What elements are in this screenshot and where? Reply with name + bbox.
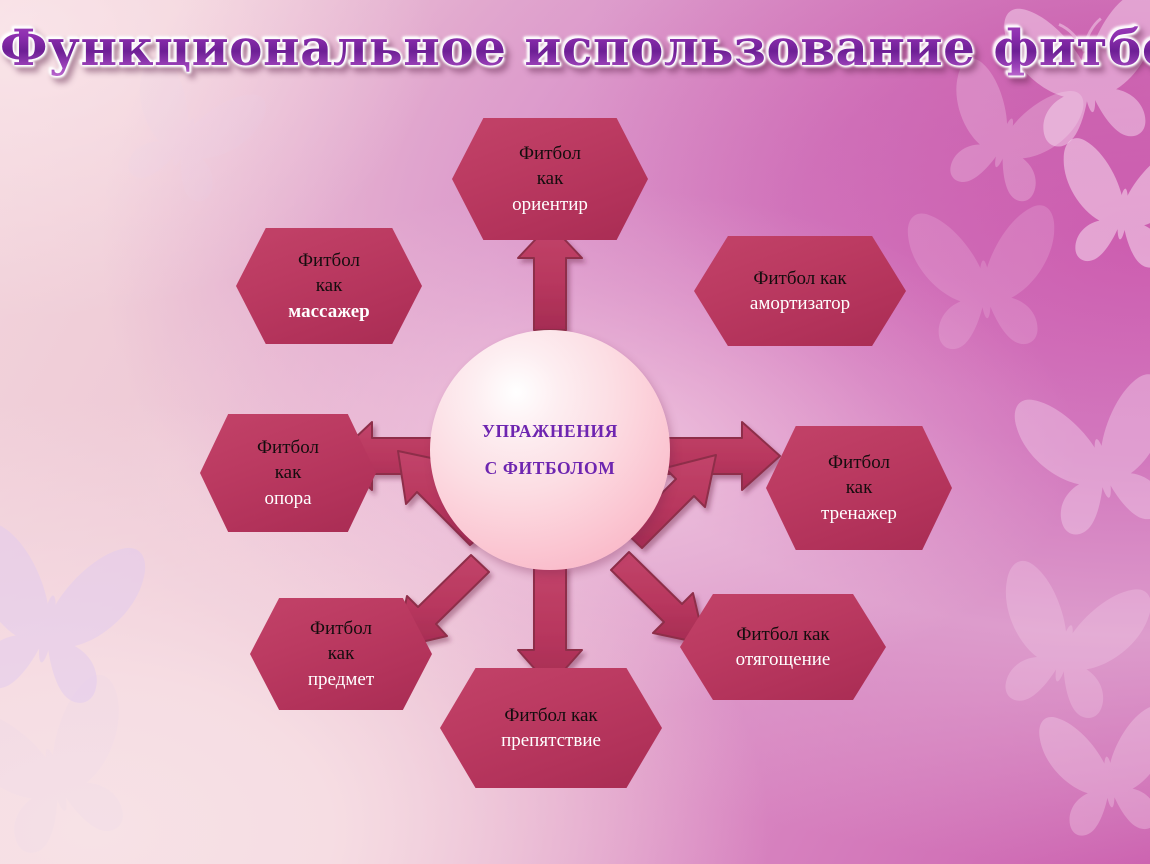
node-line: как bbox=[328, 641, 355, 666]
node-line-highlight: массажер bbox=[288, 299, 369, 324]
node-line: Фитбол bbox=[298, 248, 360, 273]
node-massager[interactable]: Фитбол как массажер bbox=[236, 228, 422, 344]
center-hub[interactable]: УПРАЖНЕНИЯ С ФИТБОЛОМ bbox=[430, 330, 670, 570]
node-trenajer[interactable]: Фитбол как тренажер bbox=[766, 426, 952, 550]
node-line: Фитбол bbox=[828, 450, 890, 475]
radial-diagram: УПРАЖНЕНИЯ С ФИТБОЛОМ Фитбол как ориенти… bbox=[0, 0, 1150, 864]
node-line: Фитбол как bbox=[753, 266, 846, 291]
node-opora[interactable]: Фитбол как опора bbox=[200, 414, 376, 532]
node-amortizator[interactable]: Фитбол как амортизатор bbox=[694, 236, 906, 346]
node-otyagoshenie[interactable]: Фитбол как отягощение bbox=[680, 594, 886, 700]
node-line: как bbox=[316, 273, 343, 298]
node-line: как bbox=[537, 166, 564, 191]
node-line: как bbox=[846, 475, 873, 500]
node-line-highlight: предмет bbox=[308, 667, 374, 692]
hub-line-1: УПРАЖНЕНИЯ bbox=[482, 421, 618, 442]
node-predmet[interactable]: Фитбол как предмет bbox=[250, 598, 432, 710]
node-line-highlight: препятствие bbox=[501, 728, 601, 753]
node-line: Фитбол как bbox=[504, 703, 597, 728]
node-orientir[interactable]: Фитбол как ориентир bbox=[452, 118, 648, 240]
node-line: Фитбол bbox=[310, 616, 372, 641]
node-line: как bbox=[275, 460, 302, 485]
node-line-highlight: опора bbox=[264, 486, 311, 511]
node-line: Фитбол как bbox=[736, 622, 829, 647]
node-line-highlight: ориентир bbox=[512, 192, 588, 217]
hub-line-2: С ФИТБОЛОМ bbox=[485, 458, 616, 479]
node-line-highlight: тренажер bbox=[821, 501, 897, 526]
node-line-highlight: амортизатор bbox=[750, 291, 850, 316]
node-prepyatstvie[interactable]: Фитбол как препятствие bbox=[440, 668, 662, 788]
node-line: Фитбол bbox=[257, 435, 319, 460]
slide-canvas: Функциональное использование фитбола bbox=[0, 0, 1150, 864]
node-line-highlight: отягощение bbox=[736, 647, 831, 672]
node-line: Фитбол bbox=[519, 141, 581, 166]
